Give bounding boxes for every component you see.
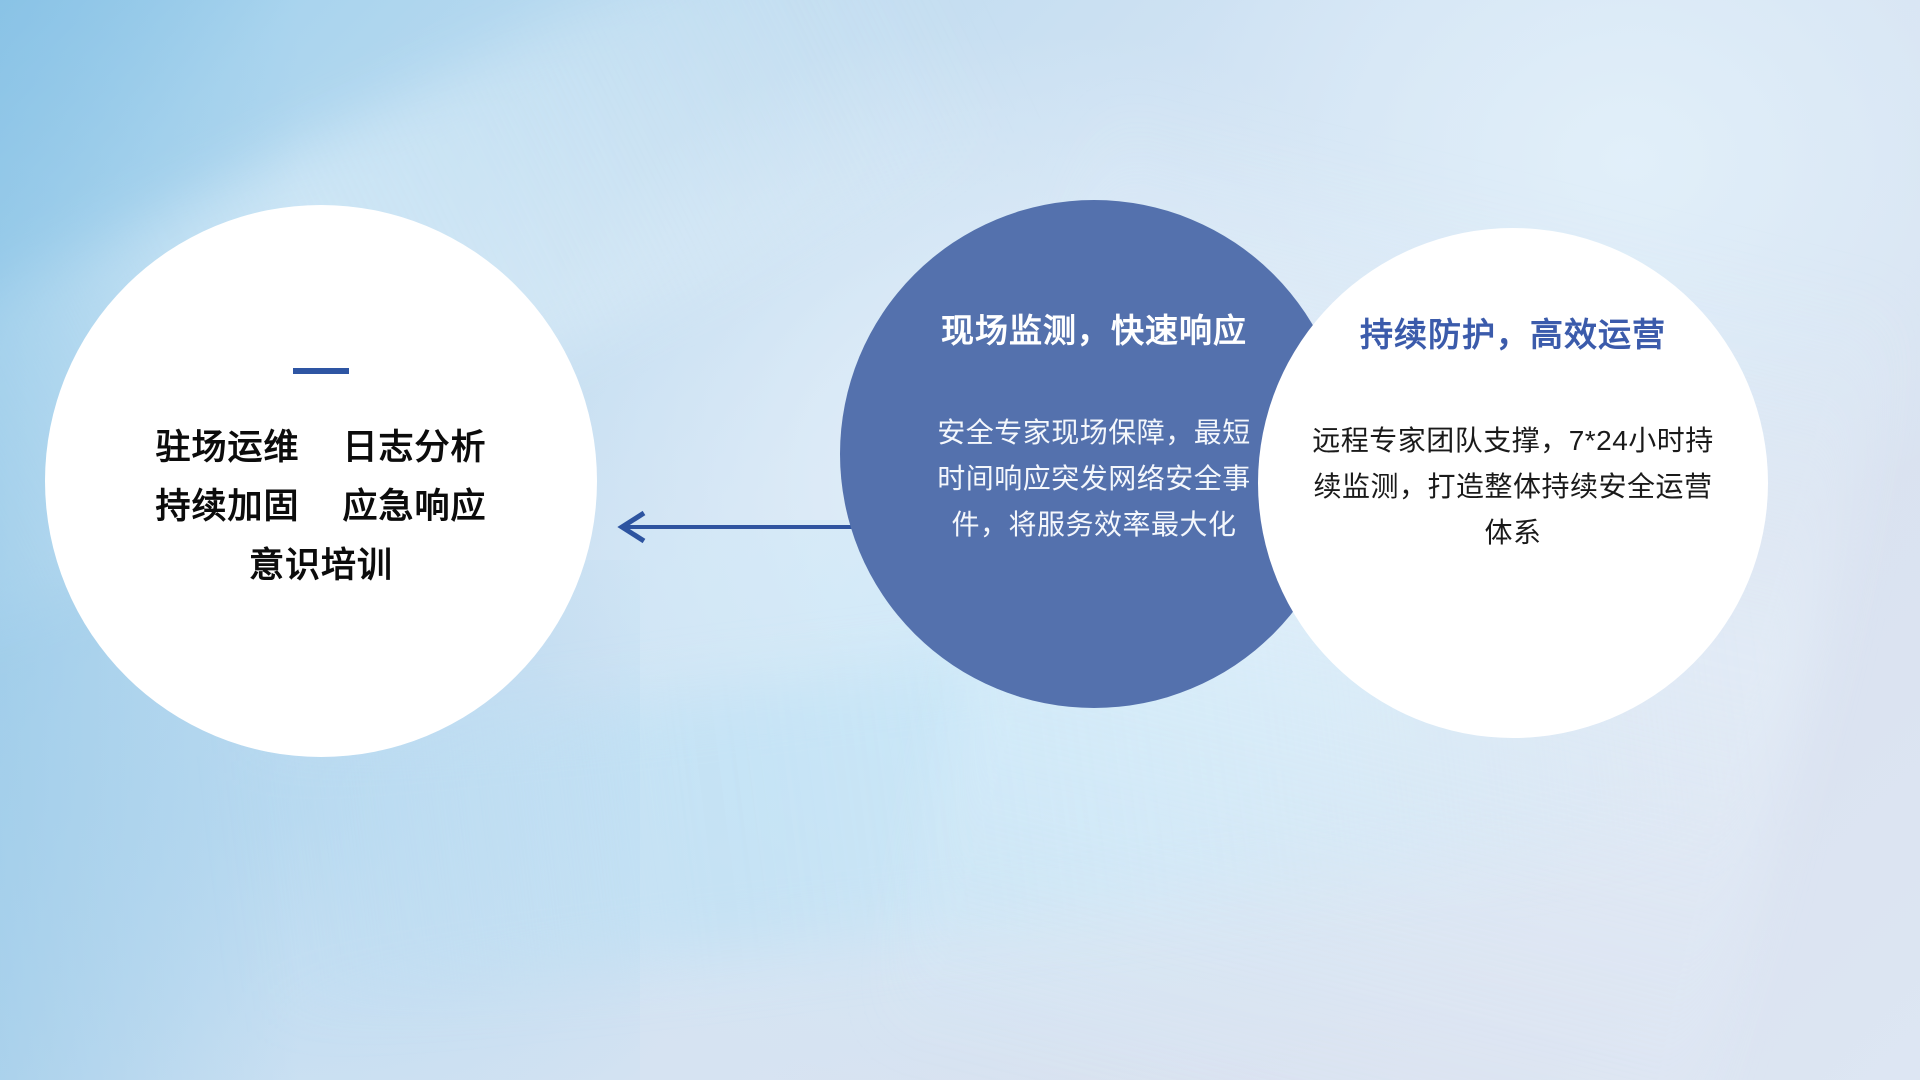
continuous-protection-body: 远程专家团队支撑，7*24小时持续监测，打造整体持续安全运营体系	[1303, 418, 1723, 556]
continuous-protection-title: 持续防护，高效运营	[1360, 308, 1666, 356]
onsite-monitoring-title: 现场监测，快速响应	[941, 304, 1247, 352]
capabilities-text: 驻场运维 日志分析 持续加固 应急响应 意识培训	[156, 418, 487, 595]
capabilities-circle: 驻场运维 日志分析 持续加固 应急响应 意识培训	[45, 205, 597, 757]
divider-dash	[293, 368, 349, 374]
slide-canvas: 驻场运维 日志分析 持续加固 应急响应 意识培训 现场监测，快速响应 安全专家现…	[0, 0, 1920, 1080]
onsite-monitoring-body: 安全专家现场保障，最短时间响应突发网络安全事件，将服务效率最大化	[934, 410, 1254, 548]
continuous-protection-circle: 持续防护，高效运营 远程专家团队支撑，7*24小时持续监测，打造整体持续安全运营…	[1258, 228, 1768, 738]
